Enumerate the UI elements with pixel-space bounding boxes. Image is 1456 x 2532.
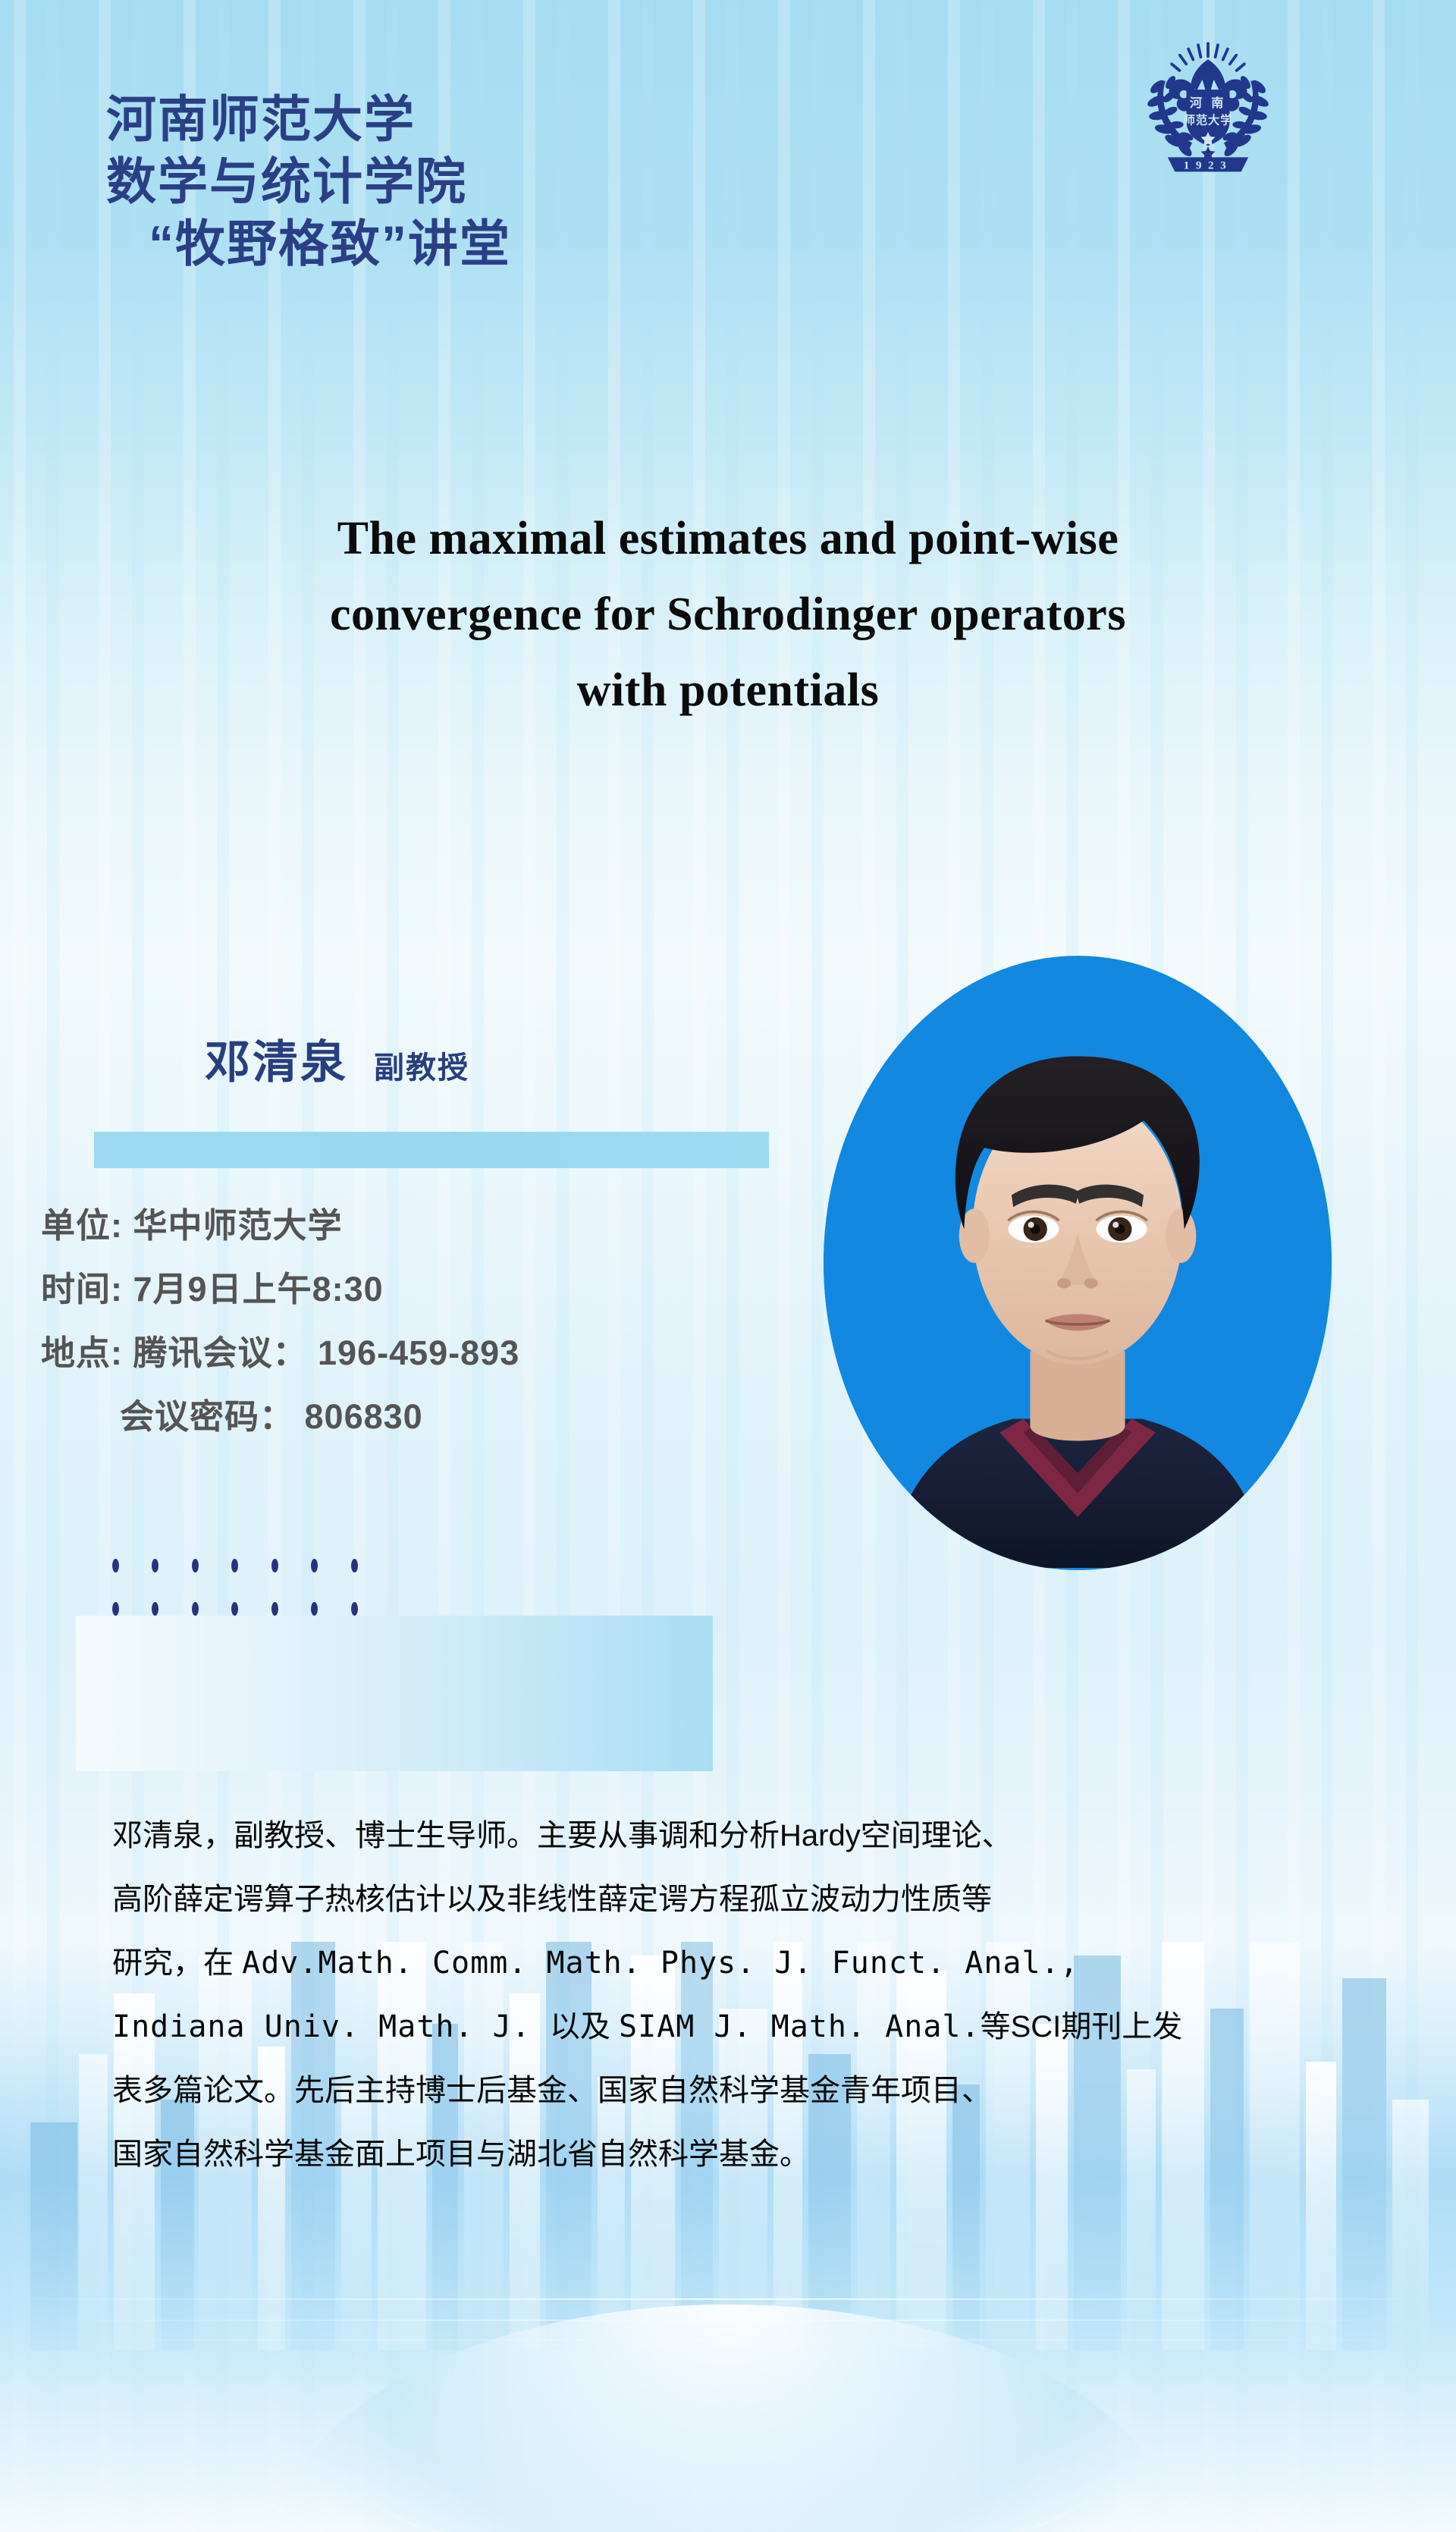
affiliation-value: 华中师范大学 xyxy=(133,1206,343,1245)
bio-line-3: 研究，在 Adv.Math. Comm. Math. Phys. J. Func… xyxy=(112,1931,1348,1995)
dot xyxy=(271,1602,278,1616)
dot xyxy=(192,1559,199,1572)
affiliation-label: 单位: xyxy=(41,1206,123,1245)
building xyxy=(30,2122,77,2350)
talk-title-line-2: convergence for Schrodinger operators xyxy=(30,576,1426,652)
password-label: 会议密码： xyxy=(120,1397,294,1436)
bio-line-6: 国家自然科学基金面上项目与湖北省自然科学基金。 xyxy=(112,2122,1348,2186)
header-line-school: 数学与统计学院 xyxy=(106,150,1031,212)
detail-password: 会议密码： 806830 xyxy=(41,1385,799,1449)
bio-line-1: 邓清泉，副教授、博士生导师。主要从事调和分析Hardy空间理论、 xyxy=(112,1804,1348,1868)
talk-title-line-3: with potentials xyxy=(30,652,1426,728)
logo-crest-line1: 河 南 xyxy=(1190,96,1226,110)
building xyxy=(1392,2100,1429,2350)
dot xyxy=(351,1602,358,1616)
bio-journals-3: SIAM J. Math. Anal. xyxy=(619,2009,981,2044)
detail-time: 时间: 7月9日上午8:30 xyxy=(41,1258,799,1321)
dot xyxy=(271,1559,278,1572)
bio-line-4-conj: 以及 xyxy=(550,2010,619,2044)
logo-crest-line2: 师范大学 xyxy=(1184,114,1233,127)
bio-journals-2: Indiana Univ. Math. J. xyxy=(112,2009,550,2044)
speaker-name: 邓清泉 xyxy=(205,1026,348,1092)
talk-title: The maximal estimates and point-wise con… xyxy=(30,501,1426,728)
header-line-lecture-series: “牧野格致”讲堂 xyxy=(106,212,1031,275)
talk-title-line-1: The maximal estimates and point-wise xyxy=(30,501,1426,576)
institution-header: 河南师范大学 数学与统计学院 “牧野格致”讲堂 xyxy=(106,88,1031,275)
seminar-poster: 河南师范大学 数学与统计学院 “牧野格致”讲堂 xyxy=(0,0,1456,2532)
dot xyxy=(231,1602,238,1616)
decorative-dots-row-1 xyxy=(112,1559,388,1572)
password-value: 806830 xyxy=(305,1397,423,1436)
building xyxy=(79,2054,108,2350)
detail-venue: 地点: 腾讯会议： 196-459-893 xyxy=(41,1321,799,1385)
bio-line-4: Indiana Univ. Math. J. 以及 SIAM J. Math. … xyxy=(112,1995,1348,2059)
dot xyxy=(311,1602,318,1616)
dot xyxy=(152,1559,158,1572)
talk-details: 单位: 华中师范大学 时间: 7月9日上午8:30 地点: 腾讯会议： 196-… xyxy=(41,1194,799,1449)
logo-year: 1923 xyxy=(1184,159,1233,172)
bio-line-4-suffix: 等SCI期刊上发 xyxy=(981,2010,1183,2044)
dot xyxy=(112,1602,119,1616)
venue-label: 地点: xyxy=(41,1334,123,1372)
dot xyxy=(192,1602,199,1616)
light-beam xyxy=(0,2298,1456,2300)
university-logo: 河 南 师范大学 1923 xyxy=(1136,33,1280,177)
time-value: 7月9日上午8:30 xyxy=(133,1270,384,1308)
dot xyxy=(351,1559,358,1572)
dot xyxy=(112,1559,119,1572)
dot xyxy=(311,1559,318,1572)
bio-line-5: 表多篇论文。先后主持博士后基金、国家自然科学基金青年项目、 xyxy=(112,2059,1348,2122)
bio-journals-1: Adv.Math. Comm. Math. Phys. J. Funct. An… xyxy=(242,1946,1079,1981)
speaker-name-row: 邓清泉 副教授 xyxy=(205,1026,469,1092)
time-label: 时间: xyxy=(41,1270,123,1308)
building xyxy=(1342,1978,1386,2350)
venue-value: 腾讯会议： 196-459-893 xyxy=(133,1334,520,1372)
speaker-biography: 邓清泉，副教授、博士生导师。主要从事调和分析Hardy空间理论、 高阶薛定谔算子… xyxy=(112,1804,1348,2186)
dot xyxy=(152,1602,158,1616)
name-underline-bar xyxy=(94,1132,769,1168)
detail-affiliation: 单位: 华中师范大学 xyxy=(41,1194,799,1258)
dot xyxy=(231,1559,238,1572)
decorative-accent-rectangle xyxy=(76,1616,713,1771)
speaker-academic-title: 副教授 xyxy=(374,1043,469,1087)
header-line-university: 河南师范大学 xyxy=(106,88,1031,150)
bio-line-3-prefix: 研究，在 xyxy=(112,1946,242,1980)
speaker-portrait xyxy=(824,956,1332,1570)
decorative-dots-row-2 xyxy=(112,1602,388,1616)
bio-line-2: 高阶薛定谔算子热核估计以及非线性薛定谔方程孤立波动力性质等 xyxy=(112,1868,1348,1931)
